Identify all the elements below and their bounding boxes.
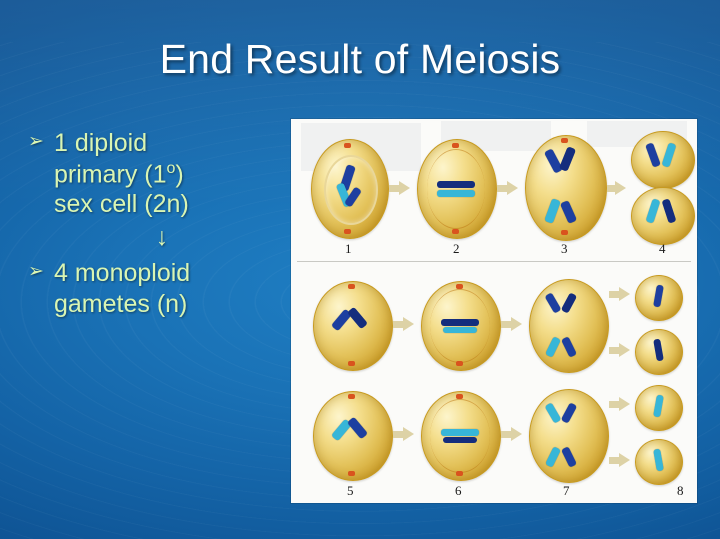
centriole — [348, 471, 355, 476]
flow-arrow-head-icon — [511, 317, 522, 331]
list-item: ➢ 4 monoploid gametes (n) — [28, 258, 286, 319]
list-item: ➢ 1 diploid primary (1o) sex cell (2n) — [28, 128, 286, 220]
flow-arrow-head-icon — [507, 181, 518, 195]
centriole — [452, 143, 459, 148]
centriole — [456, 361, 463, 366]
bullet-text: 1 diploid primary (1o) sex cell (2n) — [54, 128, 286, 220]
diagram-row-1: 1 2 3 4 — [291, 125, 697, 253]
flow-arrow — [389, 185, 399, 192]
stage-label: 8 — [677, 483, 684, 499]
bullet-list: ➢ 1 diploid primary (1o) sex cell (2n) ↓… — [28, 128, 286, 321]
page-title: End Result of Meiosis — [0, 36, 720, 83]
flow-arrow-head-icon — [619, 287, 630, 301]
centriole — [561, 138, 568, 143]
flow-arrow — [393, 321, 403, 328]
bullet-text: 4 monoploid gametes (n) — [54, 258, 286, 319]
flow-arrow-head-icon — [399, 181, 410, 195]
stage-label: 1 — [345, 241, 352, 257]
bullet-marker-icon: ➢ — [28, 258, 54, 287]
centriole — [456, 284, 463, 289]
flow-arrow — [609, 347, 619, 354]
section-divider — [297, 261, 691, 262]
centriole — [348, 361, 355, 366]
cell-stage-5-upper — [313, 281, 393, 371]
flow-arrow — [609, 457, 619, 464]
chromosome — [437, 190, 475, 197]
spindle-fibers — [430, 399, 490, 473]
centriole — [456, 394, 463, 399]
cell-stage-5 — [313, 391, 393, 481]
meiosis-diagram: 1 2 3 4 — [291, 119, 697, 503]
stage-label: 6 — [455, 483, 462, 499]
centriole — [344, 229, 351, 234]
bullet-marker-icon: ➢ — [28, 128, 54, 157]
centriole — [456, 471, 463, 476]
flow-arrow — [501, 321, 511, 328]
chromosome — [443, 327, 477, 333]
flow-arrow-head-icon — [511, 427, 522, 441]
diagram-row-2 — [291, 271, 697, 399]
stage-label: 4 — [659, 241, 666, 257]
bullet-line: primary (1o) — [54, 159, 286, 190]
spindle-fibers — [430, 289, 490, 363]
stage-label: 2 — [453, 241, 460, 257]
bullet-line: 4 monoploid — [54, 258, 286, 289]
centriole — [452, 229, 459, 234]
flow-arrow-head-icon — [619, 397, 630, 411]
down-arrow-icon: ↓ — [38, 222, 286, 253]
flow-arrow — [393, 431, 403, 438]
flow-arrow-head-icon — [619, 453, 630, 467]
chromosome — [443, 437, 477, 443]
bullet-line: sex cell (2n) — [54, 189, 286, 220]
flow-arrow — [609, 401, 619, 408]
bullet-line: 1 diploid — [54, 128, 286, 159]
centriole — [348, 284, 355, 289]
stage-label: 5 — [347, 483, 354, 499]
flow-arrow-head-icon — [615, 181, 626, 195]
stage-label: 7 — [563, 483, 570, 499]
flow-arrow-head-icon — [403, 427, 414, 441]
flow-arrow-head-icon — [403, 317, 414, 331]
bullet-line: gametes (n) — [54, 289, 286, 320]
slide: End Result of Meiosis ➢ 1 diploid primar… — [0, 0, 720, 539]
centriole — [348, 394, 355, 399]
cell-stage-4-bottom — [631, 187, 695, 245]
centriole — [344, 143, 351, 148]
flow-arrow — [501, 431, 511, 438]
degree-superscript: o — [167, 160, 176, 177]
flow-arrow — [609, 291, 619, 298]
flow-arrow — [497, 185, 507, 192]
flow-arrow-head-icon — [619, 343, 630, 357]
chromosome — [441, 429, 479, 436]
chromosome — [437, 181, 475, 188]
diagram-row-3: 5 6 7 8 — [291, 381, 697, 503]
flow-arrow — [607, 185, 615, 192]
spindle-fibers — [427, 149, 485, 229]
centriole — [561, 230, 568, 235]
chromosome — [441, 319, 479, 326]
stage-label: 3 — [561, 241, 568, 257]
